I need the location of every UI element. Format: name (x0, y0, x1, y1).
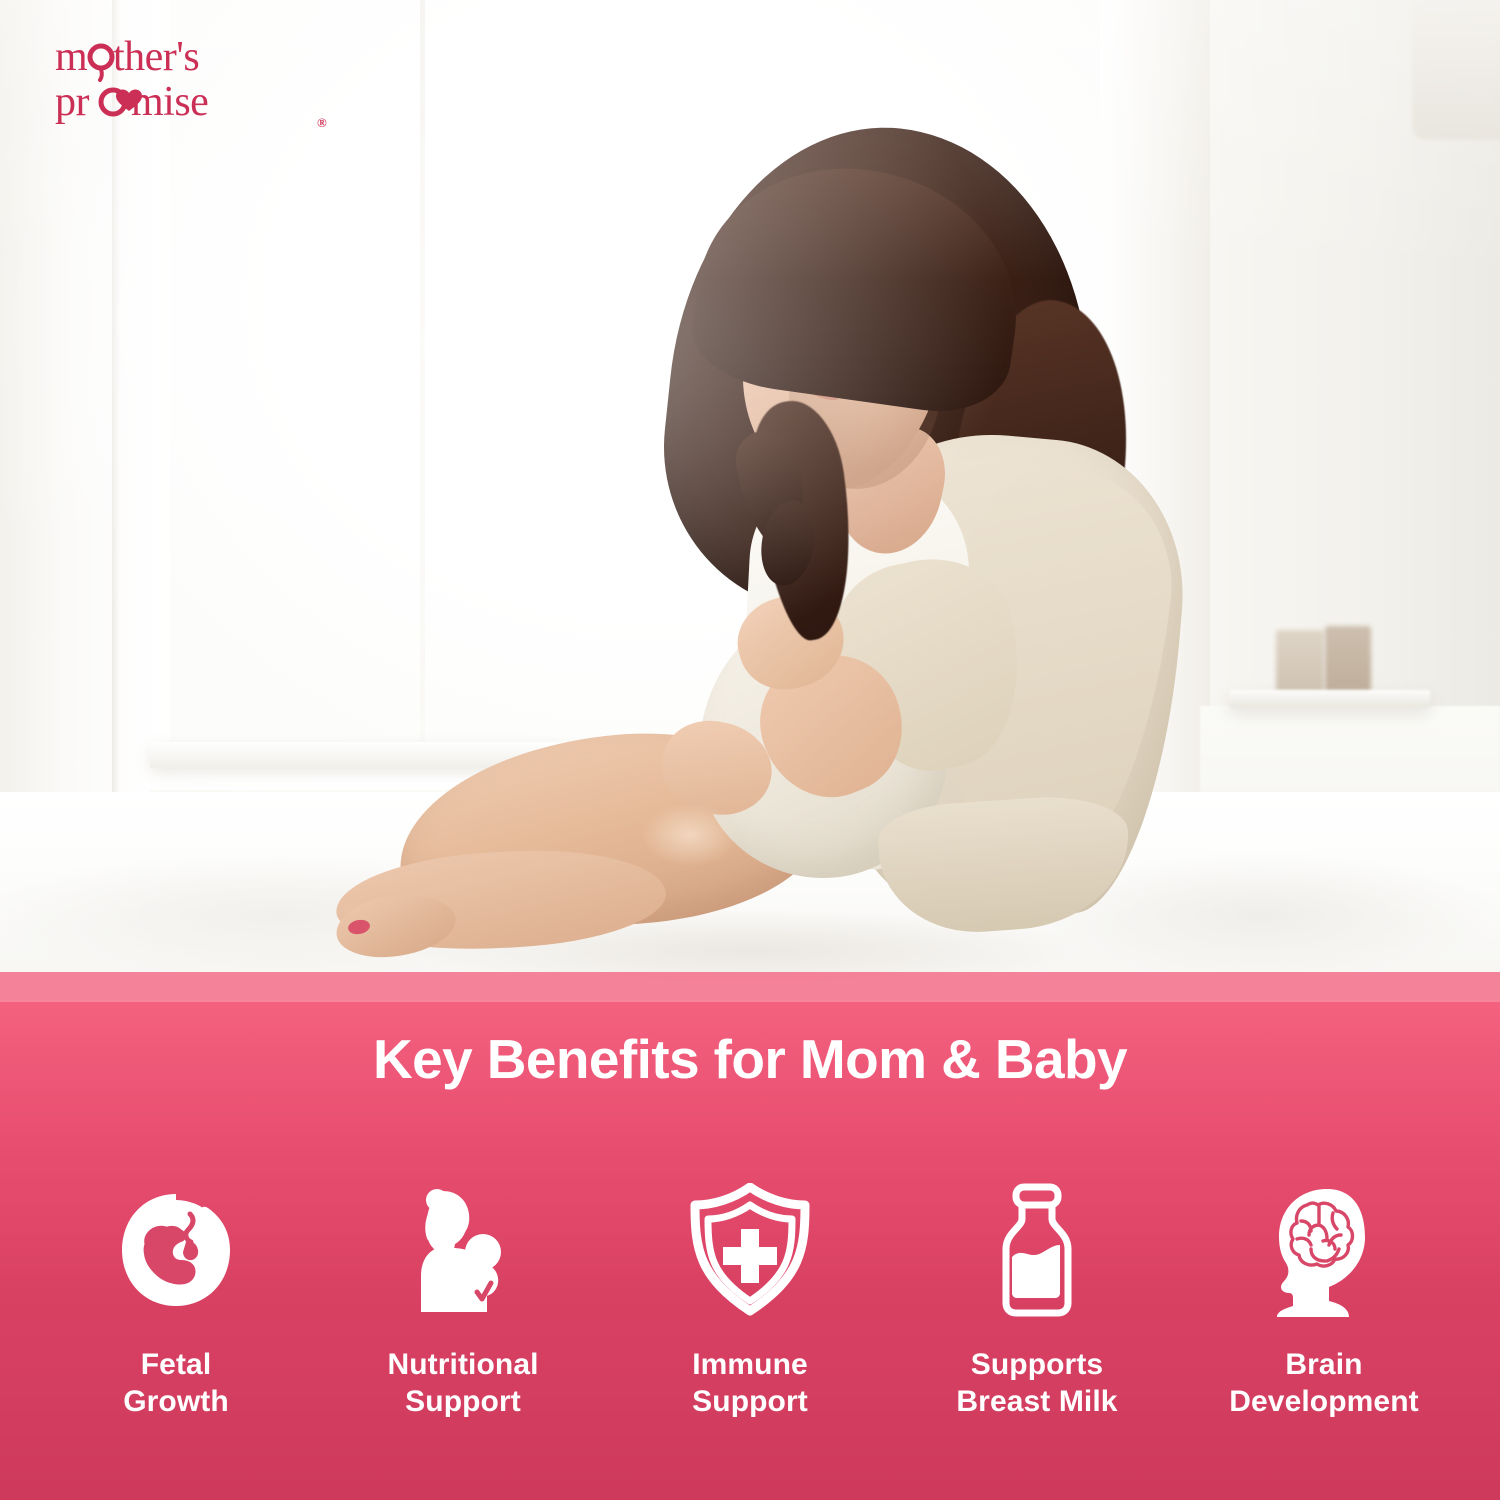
benefit-label: Immune Support (692, 1346, 808, 1420)
benefit-label: Fetal Growth (123, 1346, 229, 1420)
svg-text:pr: pr (55, 79, 90, 125)
banner-top-fade (0, 972, 1500, 1002)
pregnant-woman-figure (0, 0, 1500, 1000)
shield-with-medical-cross-icon (689, 1180, 811, 1320)
cardigan-hem (876, 791, 1134, 938)
banner-title: Key Benefits for Mom & Baby (0, 1027, 1500, 1091)
hero-photo (0, 0, 1500, 1000)
benefit-item-nutritional-support[interactable]: Nutritional Support (329, 1180, 597, 1420)
benefit-label: Brain Development (1229, 1346, 1418, 1420)
benefits-list: Fetal Growth (0, 1180, 1500, 1470)
brand-logo[interactable]: m ther's pr mise ® (55, 33, 305, 128)
benefit-item-immune-support[interactable]: Immune Support (616, 1180, 884, 1420)
product-infographic: m ther's pr mise ® Key Benefits for Mom … (0, 0, 1500, 1500)
benefit-label: Supports Breast Milk (956, 1346, 1117, 1420)
svg-text:m: m (55, 34, 88, 80)
benefit-item-fetal-growth[interactable]: Fetal Growth (42, 1180, 310, 1420)
mother-holding-baby-icon (407, 1180, 519, 1320)
registered-trademark-icon: ® (317, 115, 327, 131)
milk-bottle-icon (990, 1180, 1084, 1320)
benefit-label: Nutritional Support (387, 1346, 538, 1420)
knee-highlight (620, 790, 760, 880)
svg-text:mise: mise (131, 79, 208, 125)
svg-text:ther's: ther's (113, 34, 199, 80)
benefit-item-brain-development[interactable]: Brain Development (1190, 1180, 1458, 1420)
fetus-in-circle-icon (114, 1180, 238, 1320)
child-head-brain-icon (1261, 1180, 1387, 1320)
benefit-item-supports-breast-milk[interactable]: Supports Breast Milk (903, 1180, 1171, 1420)
mothers-promise-logo-icon: m ther's pr mise (55, 33, 305, 128)
